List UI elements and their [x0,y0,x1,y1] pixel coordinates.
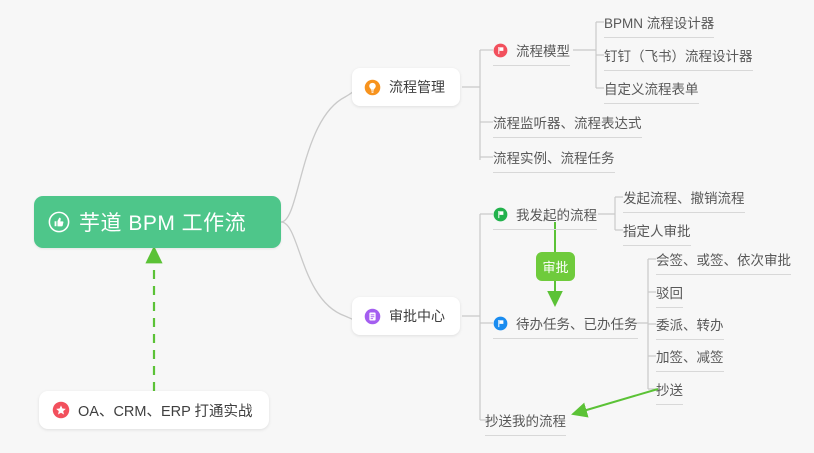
branch-label-process-management: 流程管理 [389,77,445,97]
callout-label: OA、CRM、ERP 打通实战 [78,400,253,421]
leaf-custom-form[interactable]: 自定义流程表单 [604,78,699,104]
leaf-text-cc: 抄送 [656,379,683,399]
leaf-text-dingtalk-designer: 钉钉（飞书）流程设计器 [604,45,753,65]
root-label: 芋道 BPM 工作流 [79,207,246,237]
leaf-listener-expression[interactable]: 流程监听器、流程表达式 [493,112,642,138]
leaf-countersign[interactable]: 会签、或签、依次审批 [656,249,791,275]
clipboard-icon [364,308,381,325]
leaf-text-bpmn-designer: BPMN 流程设计器 [604,12,714,32]
callout-node-integration[interactable]: OA、CRM、ERP 打通实战 [39,391,269,429]
leaf-text-process-model: 流程模型 [516,40,570,60]
star-icon [52,401,70,419]
leaf-cc[interactable]: 抄送 [656,379,683,405]
leaf-reject[interactable]: 驳回 [656,282,683,308]
leaf-text-add-remove-sign: 加签、减签 [656,346,724,366]
tag-label: 审批 [542,257,568,276]
leaf-process-model[interactable]: 流程模型 [493,40,570,66]
thumbs-up-icon [48,211,70,233]
branch-node-approval-center[interactable]: 审批中心 [352,297,460,335]
leaf-text-instance-task: 流程实例、流程任务 [493,147,615,167]
leaf-todo-done[interactable]: 待办任务、已办任务 [493,313,638,339]
leaf-text-cc-to-me: 抄送我的流程 [485,410,566,430]
branch-label-approval-center: 审批中心 [389,306,445,326]
wire-root-to-approval-center [281,222,357,321]
flag-icon [493,207,508,222]
leaf-bpmn-designer[interactable]: BPMN 流程设计器 [604,12,714,38]
leaf-delegate-transfer[interactable]: 委派、转办 [656,314,724,340]
leaf-assignee-approve[interactable]: 指定人审批 [623,220,691,246]
leaf-text-countersign: 会签、或签、依次审批 [656,249,791,269]
leaf-add-remove-sign[interactable]: 加签、减签 [656,346,724,372]
flag-icon [493,43,508,58]
wire-root-to-process-management [281,88,357,222]
tag-node-approval[interactable]: 审批 [536,252,575,281]
leaf-text-reject: 驳回 [656,282,683,302]
root-node[interactable]: 芋道 BPM 工作流 [34,196,281,248]
branch-node-process-management[interactable]: 流程管理 [352,68,460,106]
leaf-text-delegate-transfer: 委派、转办 [656,314,724,334]
leaf-cc-to-me[interactable]: 抄送我的流程 [485,410,566,436]
mindmap-canvas: 芋道 BPM 工作流 流程管理 审批中心 [0,0,814,453]
arrow-cc-to-cctome [573,389,658,414]
lightbulb-icon [364,79,381,96]
leaf-start-cancel[interactable]: 发起流程、撤销流程 [623,187,745,213]
leaf-text-assignee-approve: 指定人审批 [623,220,691,240]
leaf-text-listener-expression: 流程监听器、流程表达式 [493,112,642,132]
leaf-my-started[interactable]: 我发起的流程 [493,204,597,230]
leaf-text-my-started: 我发起的流程 [516,204,597,224]
leaf-dingtalk-designer[interactable]: 钉钉（飞书）流程设计器 [604,45,753,71]
leaf-text-todo-done: 待办任务、已办任务 [516,313,638,333]
leaf-instance-task[interactable]: 流程实例、流程任务 [493,147,615,173]
leaf-text-start-cancel: 发起流程、撤销流程 [623,187,745,207]
flag-icon [493,316,508,331]
leaf-text-custom-form: 自定义流程表单 [604,78,699,98]
